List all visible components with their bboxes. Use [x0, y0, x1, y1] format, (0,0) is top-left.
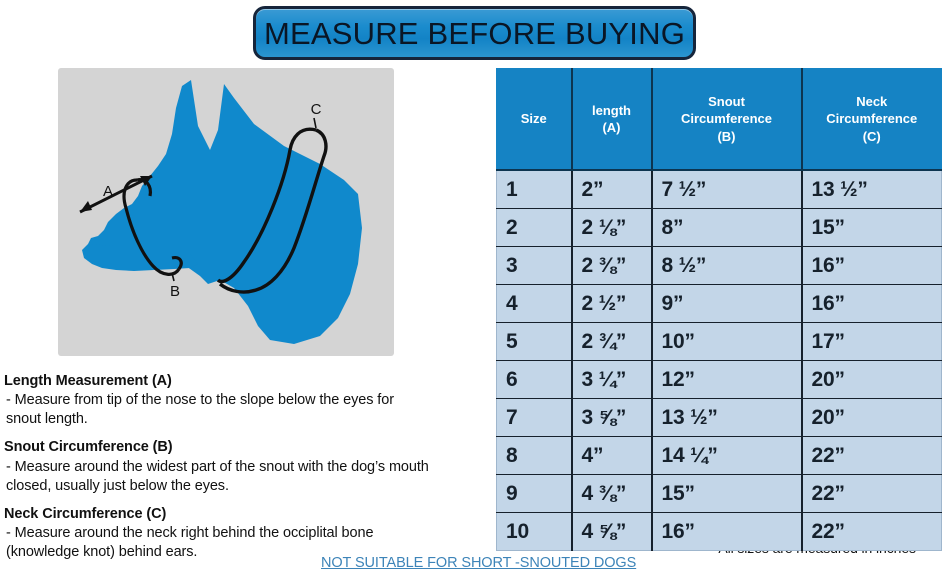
instructions-list: Length Measurement (A) - Measure from ti…: [4, 372, 484, 571]
table-row: 73 ⅝”13 ½”20”: [497, 399, 942, 437]
table-head: Size length (A) Snout Circumference (B) …: [497, 69, 942, 171]
cell-snout: 16”: [652, 513, 802, 551]
cell-len: 4 ⅜”: [572, 475, 652, 513]
header-line: (B): [655, 128, 799, 145]
table-row: 104 ⅝”16”22”: [497, 513, 942, 551]
instruction-body: - Measure from tip of the nose to the sl…: [4, 391, 484, 429]
cell-neck: 22”: [802, 437, 942, 475]
cell-size: 4: [497, 285, 572, 323]
cell-snout: 15”: [652, 475, 802, 513]
cell-len: 2 ⅛”: [572, 209, 652, 247]
cell-size: 7: [497, 399, 572, 437]
header-line: (A): [575, 119, 649, 136]
cell-neck: 17”: [802, 323, 942, 361]
header-line: Snout: [655, 93, 799, 110]
cell-size: 6: [497, 361, 572, 399]
page-title-banner: MEASURE BEFORE BUYING: [253, 6, 696, 60]
table-row: 63 ¼”12”20”: [497, 361, 942, 399]
cell-size: 10: [497, 513, 572, 551]
size-chart-table: Size length (A) Snout Circumference (B) …: [496, 68, 942, 551]
cell-snout: 9”: [652, 285, 802, 323]
label-b: B: [170, 283, 180, 300]
column-header-size: Size: [497, 69, 572, 171]
table-body: 12”7 ½”13 ½”22 ⅛”8”15”32 ⅜”8 ½”16”42 ½”9…: [497, 170, 942, 551]
cell-size: 2: [497, 209, 572, 247]
instruction-length: Length Measurement (A) - Measure from ti…: [4, 372, 484, 429]
label-a: A: [103, 183, 113, 200]
instruction-snout: Snout Circumference (B) - Measure around…: [4, 438, 484, 495]
table-row: 42 ½”9”16”: [497, 285, 942, 323]
cell-neck: 20”: [802, 361, 942, 399]
table-row: 12”7 ½”13 ½”: [497, 170, 942, 209]
cell-len: 3 ⅝”: [572, 399, 652, 437]
cell-neck: 20”: [802, 399, 942, 437]
column-header-length: length (A): [572, 69, 652, 171]
table-row: 52 ¾”10”17”: [497, 323, 942, 361]
table-row: 94 ⅜”15”22”: [497, 475, 942, 513]
cell-len: 4 ⅝”: [572, 513, 652, 551]
header-line: Size: [499, 110, 569, 127]
page-title: MEASURE BEFORE BUYING: [264, 18, 685, 49]
cell-neck: 13 ½”: [802, 170, 942, 209]
cell-len: 4”: [572, 437, 652, 475]
cell-len: 2”: [572, 170, 652, 209]
header-line: Neck: [805, 93, 940, 110]
instruction-heading: Length Measurement (A): [4, 372, 484, 390]
cell-len: 2 ⅜”: [572, 247, 652, 285]
instruction-heading: Neck Circumference (C): [4, 505, 484, 523]
cell-snout: 8 ½”: [652, 247, 802, 285]
label-c: C: [311, 101, 322, 118]
cell-neck: 15”: [802, 209, 942, 247]
cell-size: 1: [497, 170, 572, 209]
cell-snout: 7 ½”: [652, 170, 802, 209]
header-line: length: [575, 102, 649, 119]
dog-silhouette-shape: [88, 80, 362, 344]
cell-size: 9: [497, 475, 572, 513]
table-row: 22 ⅛”8”15”: [497, 209, 942, 247]
instruction-body: - Measure around the widest part of the …: [4, 458, 484, 496]
cell-len: 2 ½”: [572, 285, 652, 323]
column-header-neck-circumference: Neck Circumference (C): [802, 69, 942, 171]
table-header-row: Size length (A) Snout Circumference (B) …: [497, 69, 942, 171]
header-line: Circumference: [805, 110, 940, 127]
instruction-neck: Neck Circumference (C) - Measure around …: [4, 505, 484, 562]
size-chart-page: MEASURE BEFORE BUYING A B: [0, 0, 945, 583]
cell-len: 3 ¼”: [572, 361, 652, 399]
cell-neck: 16”: [802, 285, 942, 323]
table-row: 32 ⅜”8 ½”16”: [497, 247, 942, 285]
cell-neck: 16”: [802, 247, 942, 285]
cell-size: 8: [497, 437, 572, 475]
cell-snout: 10”: [652, 323, 802, 361]
not-suitable-note: NOT SUITABLE FOR SHORT -SNOUTED DOGS: [321, 555, 636, 571]
cell-snout: 13 ½”: [652, 399, 802, 437]
instruction-heading: Snout Circumference (B): [4, 438, 484, 456]
cell-snout: 12”: [652, 361, 802, 399]
cell-snout: 14 ¼”: [652, 437, 802, 475]
dog-head-measurement-diagram: A B C: [58, 68, 394, 356]
cell-snout: 8”: [652, 209, 802, 247]
cell-size: 3: [497, 247, 572, 285]
table-row: 84”14 ¼”22”: [497, 437, 942, 475]
dog-diagram-svg: A B C: [58, 68, 394, 356]
header-line: (C): [805, 128, 940, 145]
cell-len: 2 ¾”: [572, 323, 652, 361]
cell-size: 5: [497, 323, 572, 361]
cell-neck: 22”: [802, 513, 942, 551]
header-line: Circumference: [655, 110, 799, 127]
column-header-snout-circumference: Snout Circumference (B): [652, 69, 802, 171]
cell-neck: 22”: [802, 475, 942, 513]
